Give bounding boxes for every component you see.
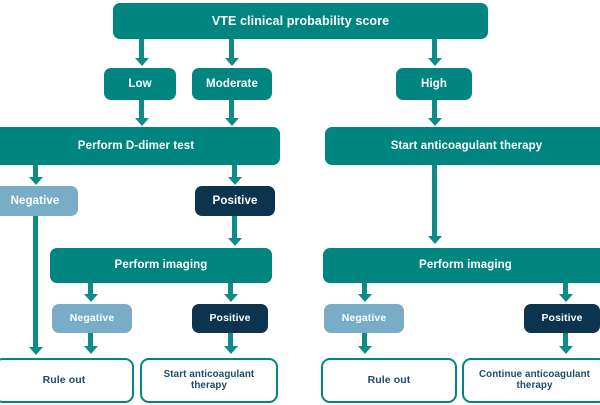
node-perform-d-dimer-test[interactable]: Perform D-dimer test <box>0 127 280 165</box>
node-imaging-right-negative[interactable]: Negative <box>324 304 404 333</box>
node-ddimer-negative[interactable]: Negative <box>0 186 78 216</box>
node-imaging-left-positive[interactable]: Positive <box>192 304 268 333</box>
node-moderate[interactable]: Moderate <box>192 68 272 100</box>
node-perform-imaging-left[interactable]: Perform imaging <box>50 248 272 283</box>
arrowhead-imaging-left-positive-to-start-anticoagulant <box>224 346 238 354</box>
connector-imaging-left-positive-to-start-anticoagulant <box>228 333 233 347</box>
connector-root-to-low <box>139 39 144 60</box>
arrowhead-imaging-right-to-negative <box>358 294 372 302</box>
flowchart-canvas: VTE clinical probability score Low Moder… <box>0 0 600 405</box>
arrowhead-root-to-low <box>135 58 149 66</box>
node-start-anticoagulant-therapy[interactable]: Start anticoagulant therapy <box>325 127 600 165</box>
arrowhead-high-to-start-anticoagulant <box>428 118 442 126</box>
node-label: Start anticoagulant therapy <box>150 370 268 392</box>
connector-imaging-left-negative-to-rule-out <box>88 333 93 347</box>
connector-high-to-start-anticoagulant <box>432 100 437 120</box>
node-continue-anticoagulant-therapy[interactable]: Continue anticoagulant therapy <box>462 358 600 403</box>
node-label: Negative <box>70 313 115 325</box>
node-low[interactable]: Low <box>104 68 176 100</box>
connector-ddimer-negative-to-rule-out <box>33 216 38 348</box>
arrowhead-ddimer-positive-to-imaging <box>228 238 242 246</box>
node-label: Negative <box>342 313 387 325</box>
node-label: VTE clinical probability score <box>212 14 389 28</box>
connector-imaging-right-negative-to-rule-out <box>362 333 367 347</box>
node-label: High <box>421 78 447 91</box>
node-label: Perform D-dimer test <box>78 140 194 153</box>
arrowhead-imaging-right-negative-to-rule-out <box>358 346 372 354</box>
arrowhead-ddimer-to-negative <box>29 177 43 185</box>
arrowhead-imaging-left-negative-to-rule-out <box>84 346 98 354</box>
arrowhead-ddimer-negative-to-rule-out <box>29 347 43 355</box>
node-label: Positive <box>209 313 250 325</box>
node-label: Rule out <box>368 375 411 387</box>
arrowhead-imaging-left-to-negative <box>84 294 98 302</box>
connector-start-anticoagulant-to-imaging <box>432 165 437 237</box>
connector-low-to-ddimer <box>139 100 144 120</box>
node-label: Moderate <box>206 78 258 91</box>
node-rule-out-right[interactable]: Rule out <box>321 358 457 403</box>
connector-ddimer-positive-to-imaging <box>232 216 237 239</box>
connector-root-to-high <box>432 39 437 60</box>
node-label: Perform imaging <box>115 259 208 272</box>
node-rule-out-left[interactable]: Rule out <box>0 358 134 403</box>
node-label: Positive <box>541 313 582 325</box>
node-imaging-left-negative[interactable]: Negative <box>52 304 132 333</box>
node-high[interactable]: High <box>396 68 472 100</box>
node-ddimer-positive[interactable]: Positive <box>195 186 275 216</box>
arrowhead-root-to-high <box>428 58 442 66</box>
node-label: Negative <box>11 195 60 208</box>
arrowhead-start-anticoagulant-to-imaging <box>428 236 442 244</box>
arrowhead-imaging-right-to-positive <box>559 294 573 302</box>
node-start-anticoagulant-therapy-result[interactable]: Start anticoagulant therapy <box>140 358 278 403</box>
connector-root-to-moderate <box>229 39 234 60</box>
arrowhead-moderate-to-ddimer <box>225 118 239 126</box>
node-label: Low <box>128 78 151 91</box>
node-imaging-right-positive[interactable]: Positive <box>524 304 600 333</box>
node-label: Rule out <box>43 375 86 387</box>
node-perform-imaging-right[interactable]: Perform imaging <box>323 248 600 283</box>
node-vte-clinical-probability-score[interactable]: VTE clinical probability score <box>113 3 488 39</box>
arrowhead-ddimer-to-positive <box>228 177 242 185</box>
arrowhead-root-to-moderate <box>225 58 239 66</box>
arrowhead-imaging-left-to-positive <box>224 294 238 302</box>
node-label: Perform imaging <box>419 259 512 272</box>
node-label: Start anticoagulant therapy <box>391 140 543 153</box>
arrowhead-low-to-ddimer <box>135 118 149 126</box>
node-label: Continue anticoagulant therapy <box>471 370 598 392</box>
connector-imaging-right-positive-to-continue-anticoagulant <box>563 333 568 347</box>
node-label: Positive <box>213 195 258 208</box>
arrowhead-imaging-right-positive-to-continue-anticoagulant <box>559 346 573 354</box>
connector-moderate-to-ddimer <box>229 100 234 120</box>
